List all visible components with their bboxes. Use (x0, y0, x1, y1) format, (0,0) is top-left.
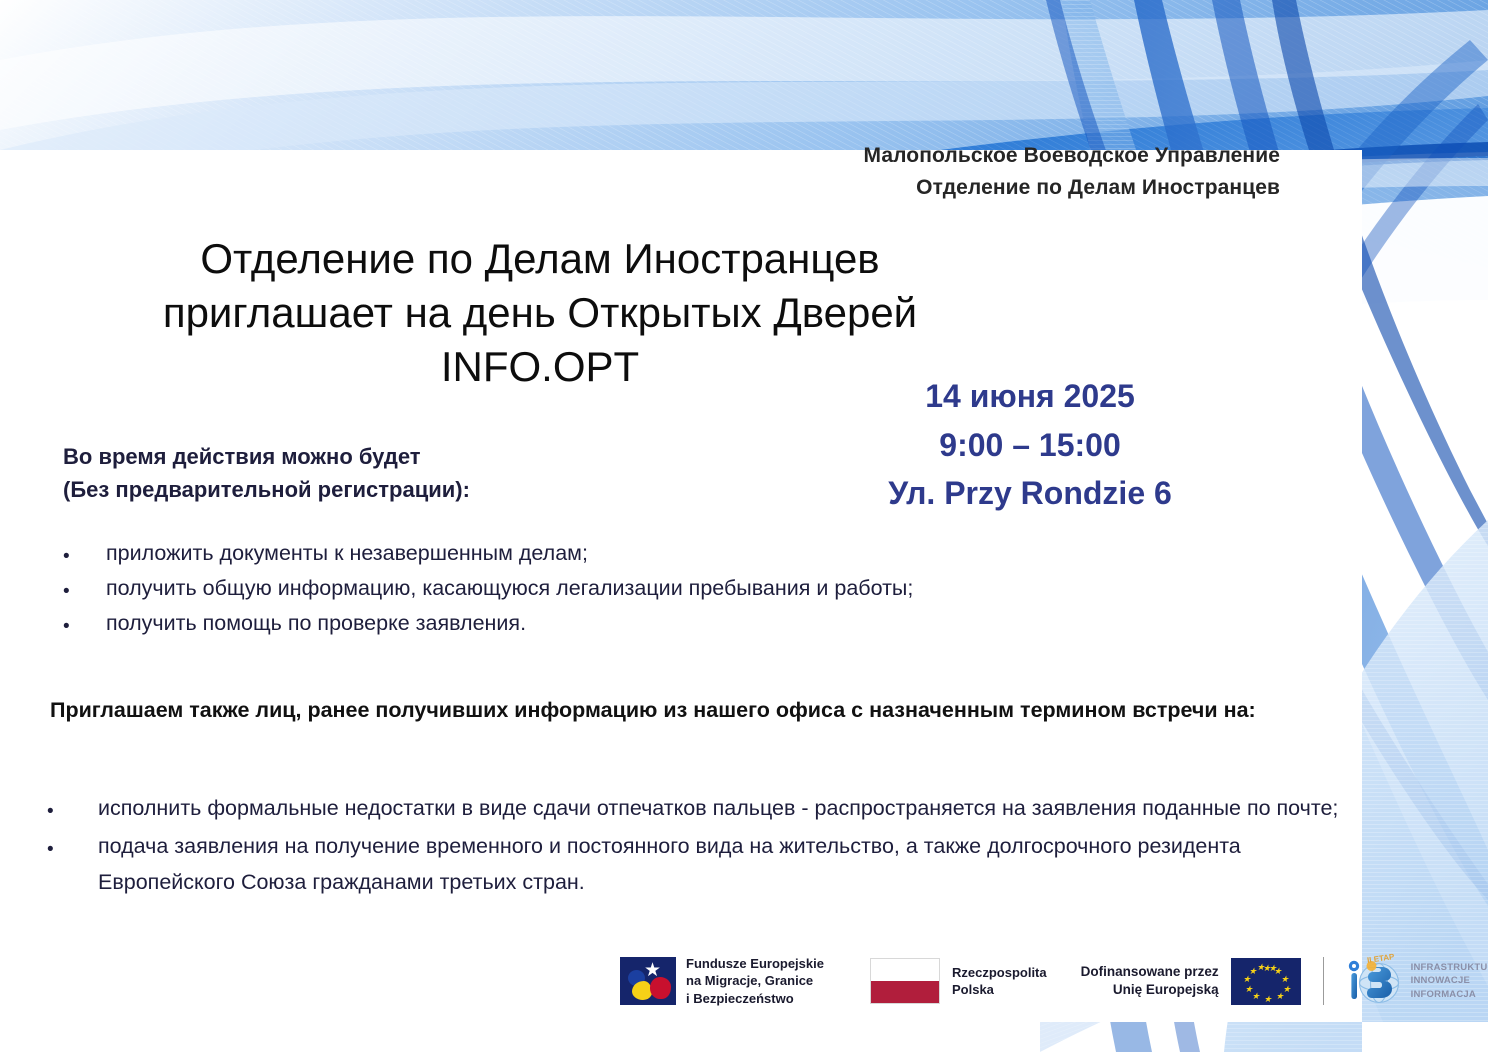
appointment-list: • исполнить формальные недостатки в виде… (0, 790, 1360, 902)
bullet-glyph-icon: • (47, 840, 54, 859)
list-item: • приложить документы к незавершенным де… (0, 536, 1340, 571)
lead-line-2: (Без предварительной регистрации): (63, 473, 703, 506)
i3-line-3: INFORMACJA (1411, 988, 1488, 1001)
event-address: Ул. Przy Rondzie 6 (850, 469, 1210, 518)
i3-line-2: INNOWACJE (1411, 974, 1488, 987)
vertical-divider (1323, 957, 1324, 1005)
lead-heading: Во время действия можно будет (Без предв… (63, 440, 703, 507)
invitation-paragraph: Приглашаем также лиц, ранее получивших и… (50, 692, 1290, 728)
logo-cofinanced-text: Dofinansowane przez Unię Europejską (1081, 963, 1219, 999)
list-item: • исполнить формальные недостатки в виде… (0, 790, 1360, 826)
bullet-glyph-icon: • (63, 547, 70, 566)
republic-line-2: Polska (952, 981, 1047, 998)
logo-cofinanced-by-eu: Dofinansowane przez Unię Europejską ★ ★ … (1081, 958, 1301, 1005)
org-header-line-1: Малопольское Воеводское Управление (760, 140, 1280, 172)
logo-fundusze-europejskie: ★ Fundusze Europejskie na Migracje, Gran… (620, 955, 824, 1006)
list-item: • получить помощь по проверке заявления. (0, 606, 1340, 641)
list-item: • получить общую информацию, касающуюся … (0, 571, 1340, 606)
event-date: 14 июня 2025 (850, 372, 1210, 421)
poster-canvas: Малопольское Воеводское Управление Отдел… (0, 0, 1488, 1052)
list-item-text: подача заявления на получение временного… (98, 834, 1241, 894)
services-list: • приложить документы к незавершенным де… (0, 536, 1340, 641)
european-union-flag-icon: ★ ★ ★ ★ ★ ★ ★ ★ ★ ★ ★ ★ (1231, 958, 1301, 1005)
cofinanced-line-1: Dofinansowane przez (1081, 963, 1219, 981)
lead-line-1: Во время действия можно будет (63, 440, 703, 473)
cofinanced-line-2: Unię Europejską (1081, 981, 1219, 999)
eu-migration-fund-emblem-icon: ★ (620, 957, 676, 1005)
footer-logo-strip: ★ Fundusze Europejskie na Migracje, Gran… (620, 948, 1488, 1014)
emblem-yellow-shape-icon (632, 981, 652, 1000)
list-item: • подача заявления на получение временно… (0, 828, 1360, 900)
event-time: 9:00 – 15:00 (850, 421, 1210, 470)
title-line-3: INFO.OPT (100, 340, 980, 394)
list-item-text: получить помощь по проверке заявления. (106, 611, 526, 635)
list-item-text: получить общую информацию, касающуюся ле… (106, 576, 913, 600)
republic-line-1: Rzeczpospolita (952, 964, 1047, 981)
polish-flag-icon (870, 958, 940, 1004)
event-details: 14 июня 2025 9:00 – 15:00 Ул. Przy Rondz… (850, 372, 1210, 518)
list-item-text: приложить документы к незавершенным дела… (106, 541, 588, 565)
emblem-star-icon: ★ (644, 961, 661, 980)
fundusze-line-1: Fundusze Europejskie (686, 955, 824, 972)
i3-globe-mark-icon: II ETAP (1346, 956, 1404, 1006)
bullet-glyph-icon: • (63, 617, 70, 636)
logo-republic-text: Rzeczpospolita Polska (952, 964, 1047, 998)
bullet-glyph-icon: • (63, 582, 70, 601)
organization-header: Малопольское Воеводское Управление Отдел… (760, 140, 1280, 203)
logo-i3-infrastruktura: II ETAP INFRASTRUKTURA INNOWACJE INFORMA… (1346, 956, 1488, 1006)
i3-wordmark-text: INFRASTRUKTURA INNOWACJE INFORMACJA (1411, 961, 1488, 1001)
org-header-line-2: Отделение по Делам Иностранцев (760, 172, 1280, 204)
logo-fundusze-text: Fundusze Europejskie na Migracje, Granic… (686, 955, 824, 1006)
i3-line-1: INFRASTRUKTURA (1411, 961, 1488, 974)
list-item-text: исполнить формальные недостатки в виде с… (98, 796, 1338, 820)
title-line-1: Отделение по Делам Иностранцев (100, 232, 980, 286)
fundusze-line-3: i Bezpieczeństwo (686, 990, 824, 1007)
bullet-glyph-icon: • (47, 802, 54, 821)
page-title: Отделение по Делам Иностранцев приглашае… (100, 232, 980, 393)
fundusze-line-2: na Migracje, Granice (686, 972, 824, 989)
title-line-2: приглашает на день Открытых Дверей (100, 286, 980, 340)
logo-rzeczpospolita-polska: Rzeczpospolita Polska (870, 958, 1047, 1004)
